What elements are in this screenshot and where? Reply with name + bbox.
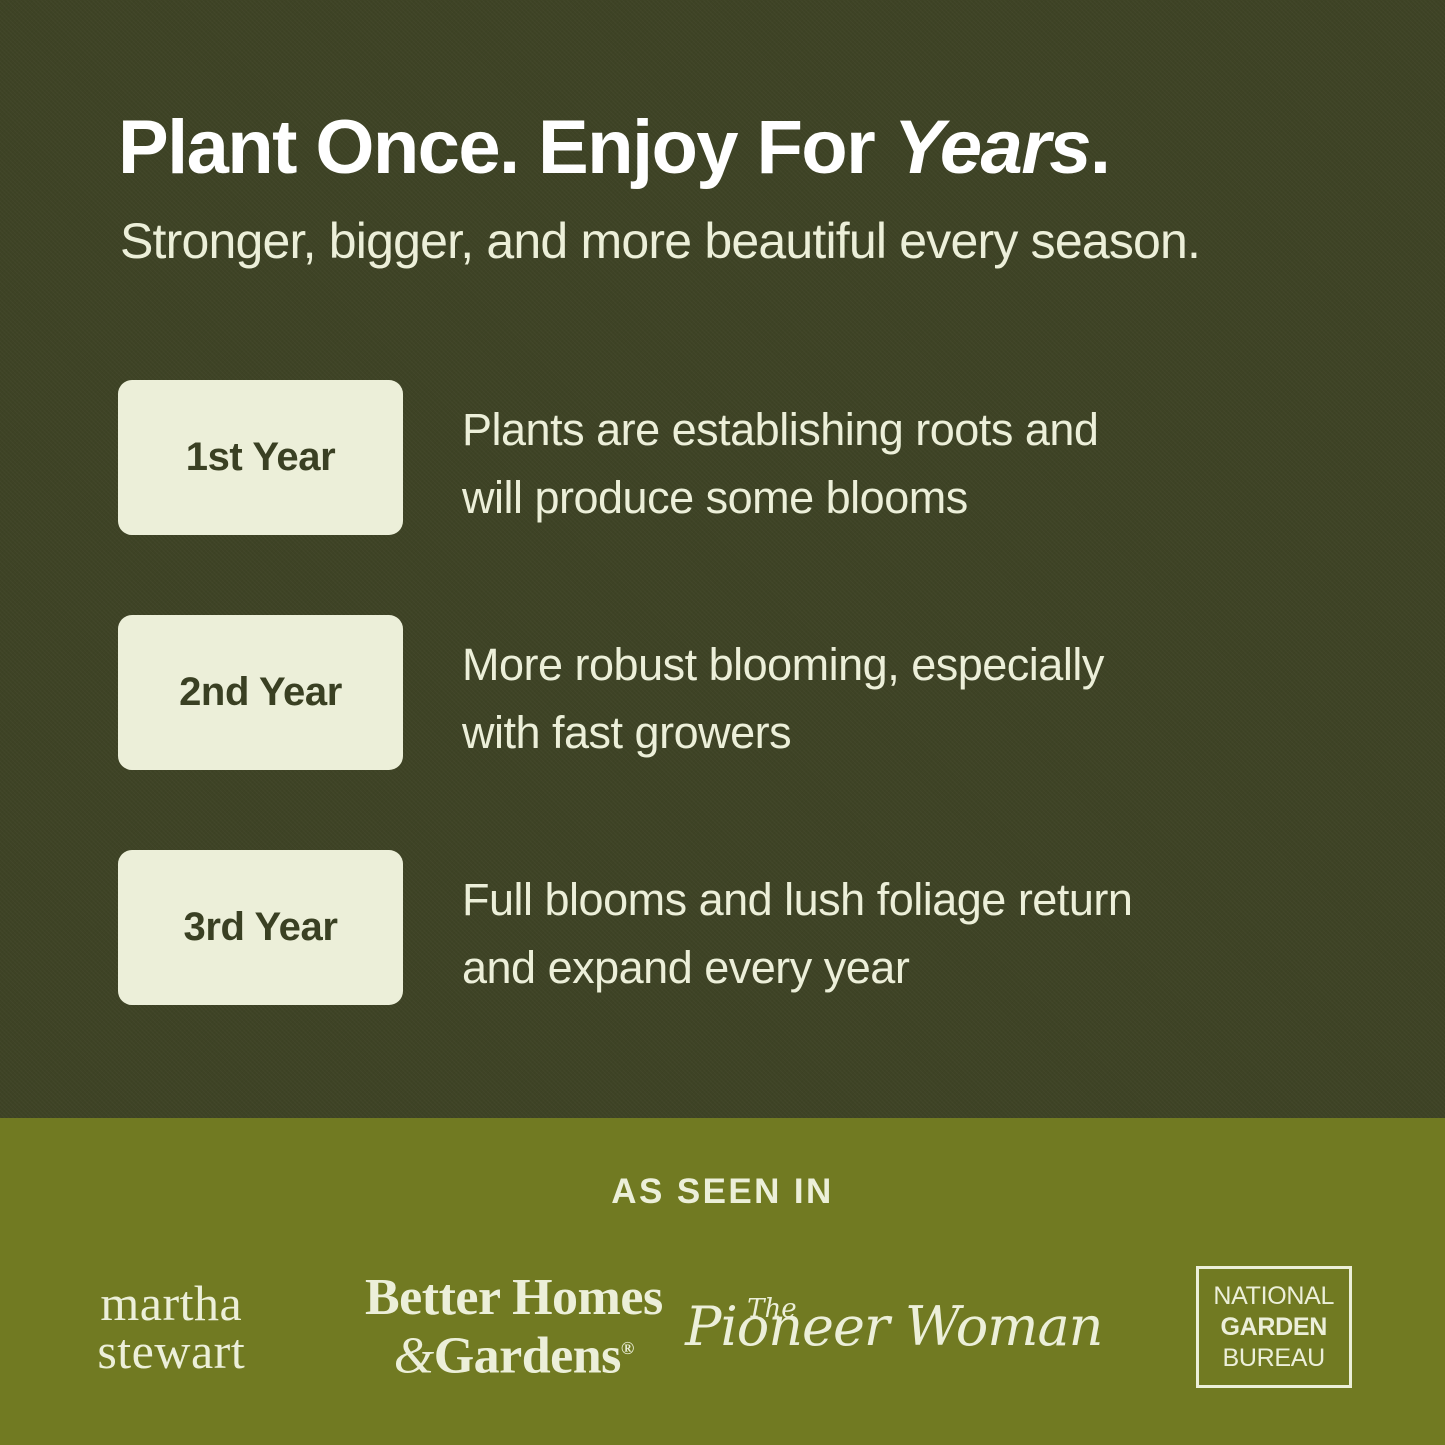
ngb-wordmark-box: NATIONAL GARDEN BUREAU: [1196, 1266, 1352, 1388]
ngb-line-2: GARDEN: [1220, 1312, 1327, 1343]
bhg-line-2: &Gardens®: [365, 1323, 663, 1381]
year-description-3: Full blooms and lush foliage return and …: [462, 866, 1362, 1002]
bhg-wordmark: Better Homes &Gardens®: [365, 1273, 663, 1381]
page-title: Plant Once. Enjoy For Years.: [118, 104, 1368, 192]
year-badge-3: 3rd Year: [118, 850, 403, 1005]
headline-emphasis: Years: [894, 105, 1090, 190]
year-badge-label: 3rd Year: [184, 905, 338, 950]
year-description-1: Plants are establishing roots and will p…: [462, 396, 1362, 532]
ampersand-icon: &: [394, 1327, 434, 1384]
year-description-line-1: Plants are establishing roots and: [462, 396, 1362, 464]
martha-stewart-wordmark: martha stewart: [97, 1279, 245, 1375]
list-item: 1st Year Plants are establishing roots a…: [0, 380, 1445, 535]
year-description-line-2: will produce some blooms: [462, 464, 1362, 532]
list-item: 3rd Year Full blooms and lush foliage re…: [0, 850, 1445, 1005]
year-badge-label: 2nd Year: [179, 670, 342, 715]
martha-stewart-line-2: stewart: [97, 1327, 245, 1375]
year-description-2: More robust blooming, especially with fa…: [462, 631, 1362, 767]
year-badge-2: 2nd Year: [118, 615, 403, 770]
press-logo-row: martha stewart Better Homes &Gardens® Th…: [0, 1252, 1445, 1402]
list-item: 2nd Year More robust blooming, especiall…: [0, 615, 1445, 770]
logo-better-homes-gardens: Better Homes &Gardens®: [343, 1252, 686, 1402]
year-timeline-list: 1st Year Plants are establishing roots a…: [0, 380, 1445, 1085]
logo-national-garden-bureau: NATIONAL GARDEN BUREAU: [1102, 1252, 1445, 1402]
martha-stewart-line-1: martha: [97, 1279, 245, 1327]
year-description-line-2: with fast growers: [462, 699, 1362, 767]
year-description-line-2: and expand every year: [462, 934, 1362, 1002]
promo-infographic: Plant Once. Enjoy For Years. Stronger, b…: [0, 0, 1445, 1445]
registered-trademark-icon: ®: [621, 1338, 634, 1358]
headline-text-part2: .: [1090, 105, 1110, 190]
top-dark-panel: Plant Once. Enjoy For Years. Stronger, b…: [0, 0, 1445, 1118]
logo-pioneer-woman: The Pioneer Woman: [685, 1252, 1102, 1402]
year-badge-1: 1st Year: [118, 380, 403, 535]
ngb-line-1: NATIONAL: [1213, 1281, 1334, 1312]
year-badge-label: 1st Year: [186, 435, 336, 480]
ngb-line-3: BUREAU: [1223, 1343, 1325, 1374]
pioneer-woman-wordmark: The Pioneer Woman: [685, 1298, 1102, 1356]
year-description-line-1: More robust blooming, especially: [462, 631, 1362, 699]
logo-martha-stewart: martha stewart: [0, 1252, 343, 1402]
pioneer-woman-the: The: [747, 1280, 796, 1338]
year-description-line-1: Full blooms and lush foliage return: [462, 866, 1362, 934]
headline-text-part1: Plant Once. Enjoy For: [118, 105, 894, 190]
page-subtitle: Stronger, bigger, and more beautiful eve…: [120, 210, 1380, 272]
bhg-line-2-text: Gardens: [434, 1327, 621, 1384]
as-seen-in-heading: AS SEEN IN: [0, 1172, 1445, 1212]
bhg-line-1: Better Homes: [365, 1273, 663, 1323]
